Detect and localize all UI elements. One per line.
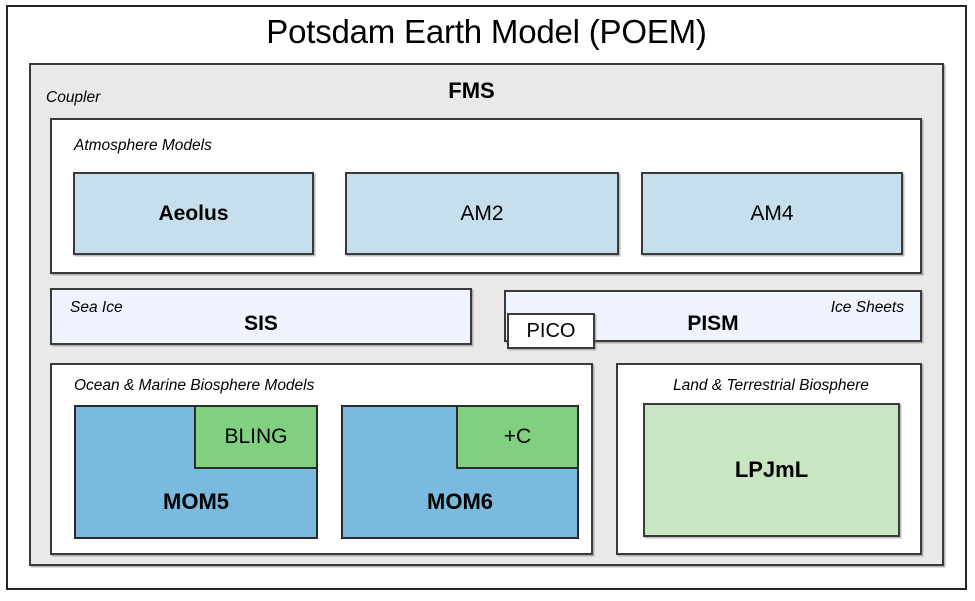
group-label-ocean: Ocean & Marine Biosphere Models xyxy=(74,377,314,395)
model-label-mom5: MOM5 xyxy=(76,489,316,515)
model-box-am2[interactable]: AM2 xyxy=(345,172,619,255)
group-land-terrestrial-biosphere: Land & Terrestrial Biosphere LPJmL xyxy=(616,363,922,555)
group-ocean-marine-biosphere: Ocean & Marine Biosphere Models BLING MO… xyxy=(50,363,593,555)
model-label-aeolus: Aeolus xyxy=(158,202,228,226)
model-box-pico[interactable]: PICO xyxy=(507,313,595,349)
model-box-am4[interactable]: AM4 xyxy=(641,172,903,255)
model-box-bling[interactable]: BLING xyxy=(194,405,318,469)
model-label-bling: BLING xyxy=(224,425,287,449)
model-box-lpjml[interactable]: LPJmL xyxy=(643,403,900,537)
model-box-plus-c[interactable]: +C xyxy=(456,405,579,469)
page-title: Potsdam Earth Model (POEM) xyxy=(6,12,967,52)
group-label-atmosphere: Atmosphere Models xyxy=(74,137,212,155)
model-label-mom6: MOM6 xyxy=(343,489,577,515)
model-label-am2: AM2 xyxy=(460,202,503,226)
coupler-name-fms: FMS xyxy=(31,78,946,104)
model-label-pico: PICO xyxy=(527,320,576,343)
model-box-sis[interactable]: Sea Ice SIS xyxy=(50,288,472,345)
model-box-mom5[interactable]: BLING MOM5 xyxy=(74,405,318,539)
model-box-mom6[interactable]: +C MOM6 xyxy=(341,405,579,539)
model-label-am4: AM4 xyxy=(750,202,793,226)
group-label-land: Land & Terrestrial Biosphere xyxy=(618,377,924,395)
model-label-plus-c: +C xyxy=(504,425,531,449)
model-label-sis: SIS xyxy=(52,312,470,336)
model-box-aeolus[interactable]: Aeolus xyxy=(73,172,314,255)
group-atmosphere-models: Atmosphere Models Aeolus AM2 AM4 xyxy=(50,118,922,274)
model-label-lpjml: LPJmL xyxy=(735,457,808,483)
poem-diagram: Potsdam Earth Model (POEM) Coupler FMS A… xyxy=(0,0,975,601)
